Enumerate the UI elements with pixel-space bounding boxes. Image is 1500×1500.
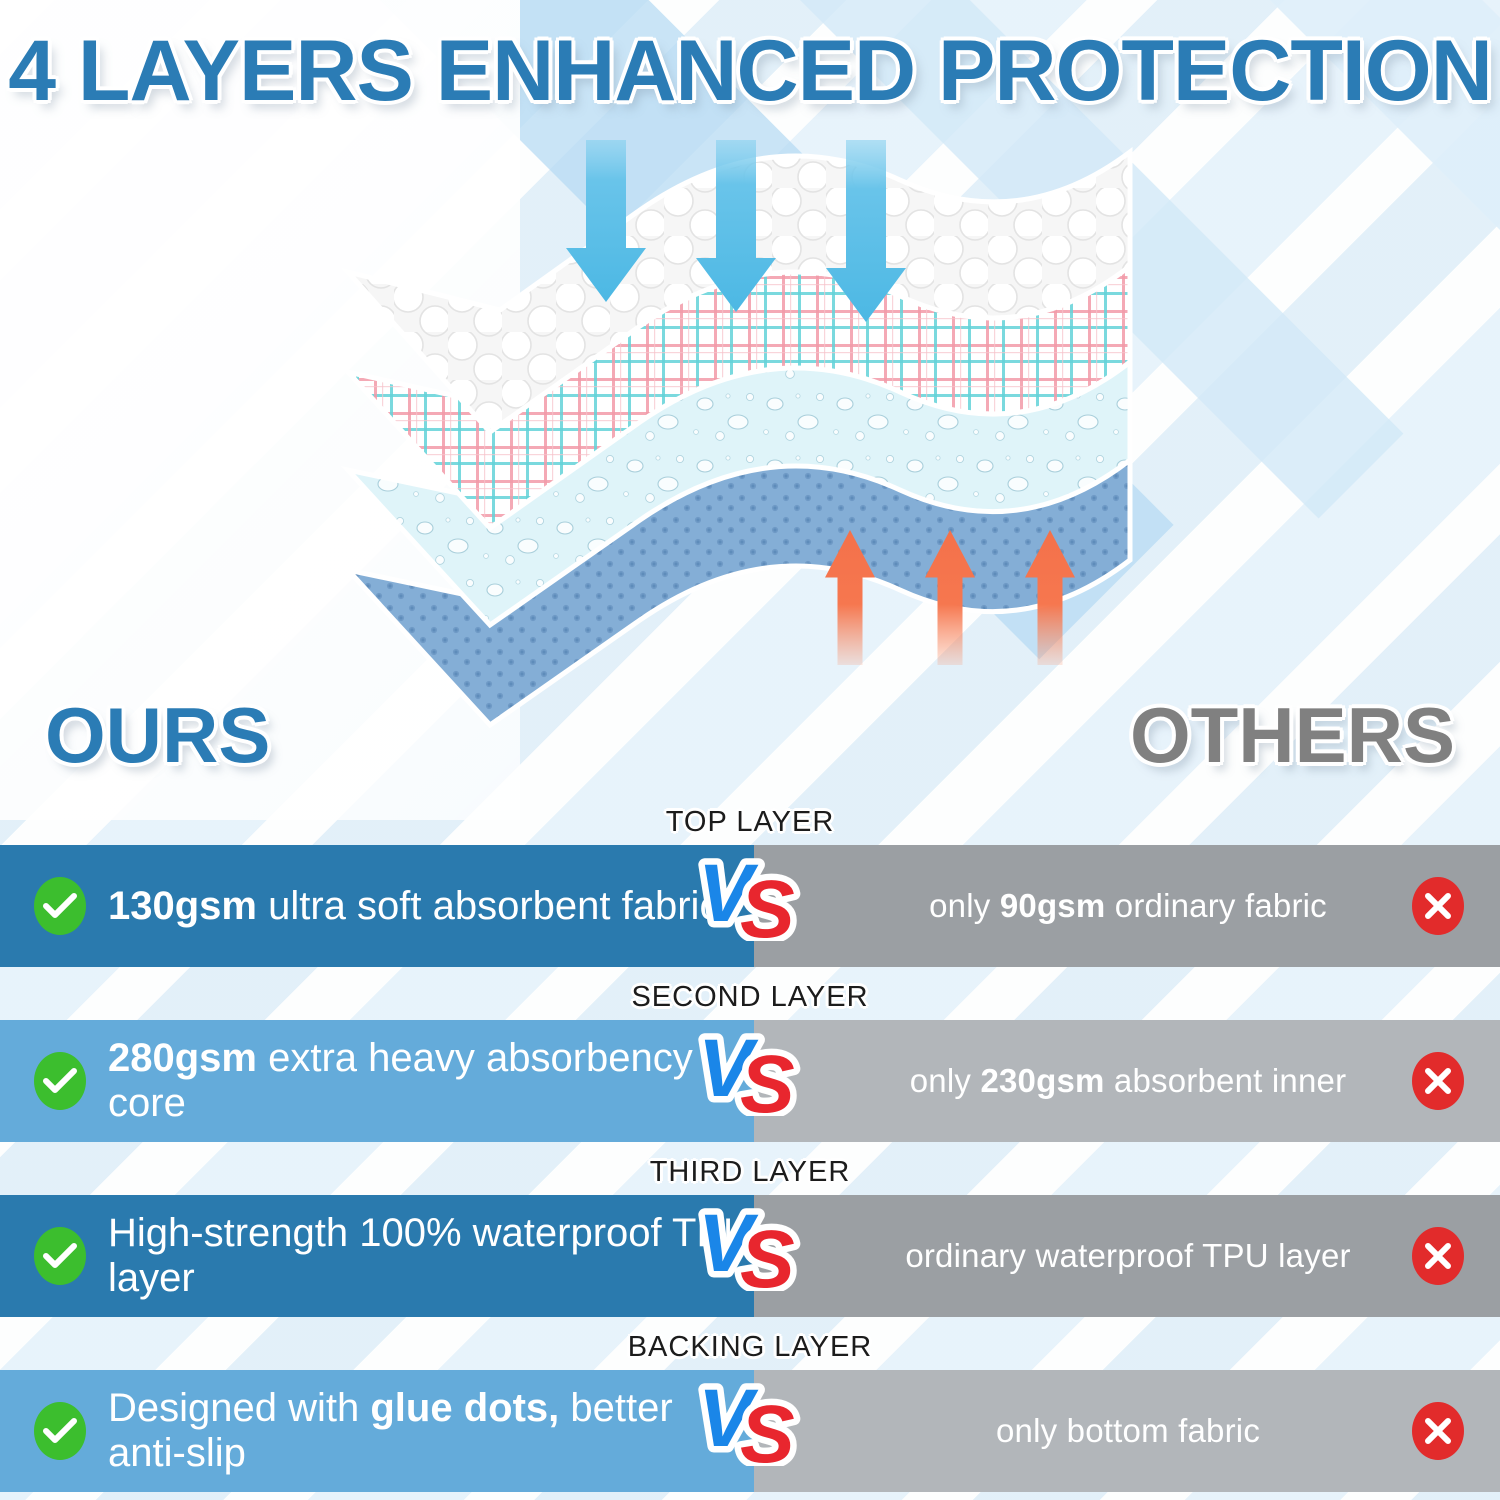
ours-cell: Designed with glue dots, better anti-sli… xyxy=(0,1370,754,1492)
row-gap xyxy=(0,1317,1500,1325)
ours-cell: 280gsm extra heavy absorbency core xyxy=(0,1020,754,1142)
ours-highlight: 130gsm xyxy=(108,884,257,928)
others-cell: ordinary waterproof TPU layer xyxy=(754,1195,1500,1317)
layer-caption-second: SECOND LAYER xyxy=(0,975,1500,1020)
row-gap xyxy=(0,967,1500,975)
check-circle-icon xyxy=(34,1227,86,1285)
table-row: 280gsm extra heavy absorbency core only … xyxy=(0,1020,1500,1142)
row-gap xyxy=(0,1142,1500,1150)
others-cell: only 90gsm ordinary fabric xyxy=(754,845,1500,967)
layer-caption-backing: BACKING LAYER xyxy=(0,1325,1500,1370)
others-rest: ordinary waterproof TPU layer xyxy=(905,1237,1350,1274)
check-circle-icon xyxy=(34,1052,86,1110)
ours-cell: 130gsm ultra soft absorbent fabric xyxy=(0,845,754,967)
ours-highlight: 280gsm xyxy=(108,1036,257,1080)
x-circle-icon xyxy=(1412,1402,1464,1460)
ours-prefix: Designed with xyxy=(108,1386,370,1430)
others-pre: only xyxy=(929,887,1000,924)
x-circle-icon xyxy=(1412,877,1464,935)
ours-text: 130gsm ultra soft absorbent fabric xyxy=(108,884,719,929)
others-cell: only 230gsm absorbent inner xyxy=(754,1020,1500,1142)
page-title: 4 LAYERS ENHANCED PROTECTION xyxy=(0,22,1500,121)
ours-text: 280gsm extra heavy absorbency core xyxy=(108,1036,754,1126)
check-circle-icon xyxy=(34,877,86,935)
table-row: 130gsm ultra soft absorbent fabric only … xyxy=(0,845,1500,967)
infographic-canvas: 4 LAYERS ENHANCED PROTECTION xyxy=(0,0,1500,1500)
others-text: ordinary waterproof TPU layer xyxy=(874,1237,1412,1275)
others-pre: only xyxy=(910,1062,981,1099)
others-text: only bottom fabric xyxy=(874,1412,1412,1450)
layer-caption-third: THIRD LAYER xyxy=(0,1150,1500,1195)
x-circle-icon xyxy=(1412,1227,1464,1285)
others-highlight: 90gsm xyxy=(1000,887,1106,924)
ours-cell: High-strength 100% waterproof TPU layer xyxy=(0,1195,754,1317)
comparison-table: TOP LAYER 130gsm ultra soft absorbent fa… xyxy=(0,800,1500,1500)
column-header-others: OTHERS xyxy=(1130,690,1455,781)
ours-highlight: glue dots, xyxy=(370,1386,559,1430)
others-text: only 90gsm ordinary fabric xyxy=(874,887,1412,925)
check-circle-icon xyxy=(34,1402,86,1460)
column-header-ours: OURS xyxy=(45,690,270,781)
others-text: only 230gsm absorbent inner xyxy=(874,1062,1412,1100)
others-highlight: 230gsm xyxy=(980,1062,1104,1099)
x-circle-icon xyxy=(1412,1052,1464,1110)
ours-text: Designed with glue dots, better anti-sli… xyxy=(108,1386,754,1476)
ours-rest: High-strength 100% waterproof TPU layer xyxy=(108,1211,752,1300)
others-rest: absorbent inner xyxy=(1105,1062,1347,1099)
others-rest: only bottom fabric xyxy=(996,1412,1260,1449)
others-cell: only bottom fabric xyxy=(754,1370,1500,1492)
ours-rest: ultra soft absorbent fabric xyxy=(257,884,719,928)
layers-illustration xyxy=(340,140,1140,740)
others-rest: ordinary fabric xyxy=(1105,887,1326,924)
table-row: High-strength 100% waterproof TPU layer … xyxy=(0,1195,1500,1317)
ours-text: High-strength 100% waterproof TPU layer xyxy=(108,1211,754,1301)
table-row: Designed with glue dots, better anti-sli… xyxy=(0,1370,1500,1492)
layer-caption-top: TOP LAYER xyxy=(0,800,1500,845)
